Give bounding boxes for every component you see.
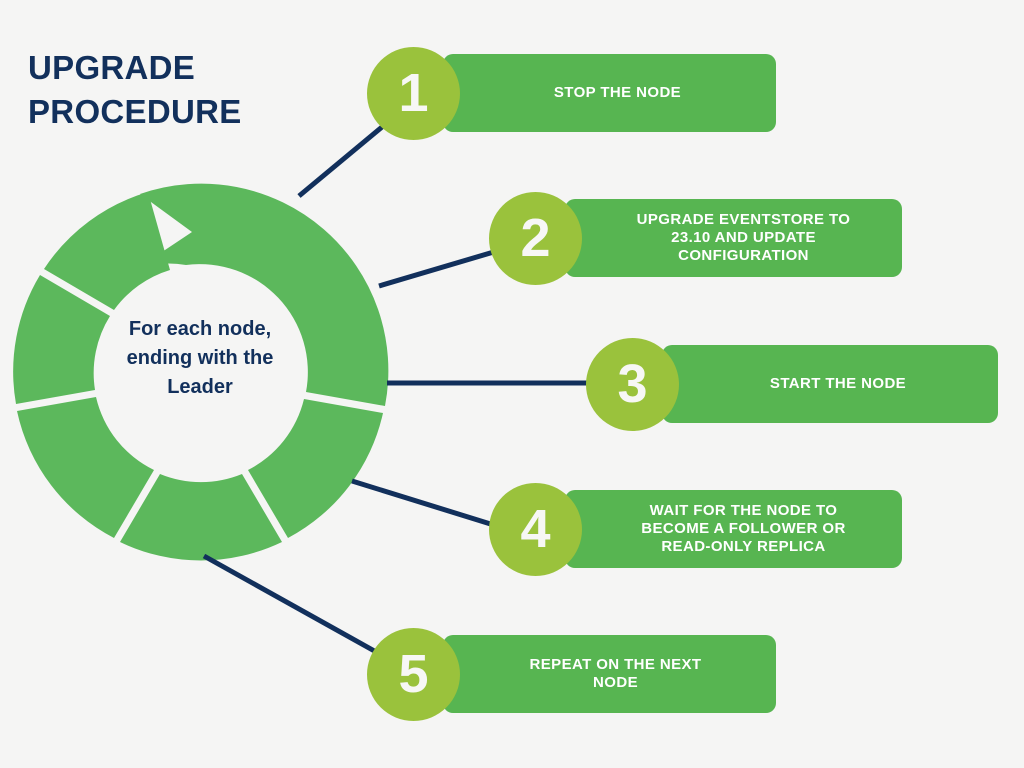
step-4-badge[interactable]: 4 [489, 483, 582, 576]
connector-line-4 [352, 481, 497, 526]
step-5-box[interactable]: REPEAT ON THE NEXT NODE [443, 635, 776, 713]
connector-line-5 [204, 556, 378, 653]
step-2-label: UPGRADE EVENTSTORE TO 23.10 AND UPDATE C… [607, 211, 861, 266]
step-1-box[interactable]: STOP THE NODE [443, 54, 776, 132]
step-4-label: WAIT FOR THE NODE TO BECOME A FOLLOWER O… [611, 502, 855, 557]
infographic-canvas: UPGRADE PROCEDURE For each node, ending … [0, 0, 1024, 768]
step-3-label: START THE NODE [744, 375, 916, 393]
step-5-number: 5 [398, 647, 428, 701]
step-1-number: 1 [398, 66, 428, 120]
step-2-number: 2 [520, 211, 550, 265]
step-2-badge[interactable]: 2 [489, 192, 582, 285]
step-3-box[interactable]: START THE NODE [662, 345, 998, 423]
step-1-label: STOP THE NODE [528, 84, 691, 102]
step-2-box[interactable]: UPGRADE EVENTSTORE TO 23.10 AND UPDATE C… [565, 199, 902, 277]
connector-line-1 [299, 127, 382, 196]
connector-line-2 [379, 251, 497, 286]
step-5-label: REPEAT ON THE NEXT NODE [508, 656, 712, 693]
step-1-badge[interactable]: 1 [367, 47, 460, 140]
step-3-number: 3 [617, 357, 647, 411]
step-4-number: 4 [520, 502, 550, 556]
step-5-badge[interactable]: 5 [367, 628, 460, 721]
step-4-box[interactable]: WAIT FOR THE NODE TO BECOME A FOLLOWER O… [565, 490, 902, 568]
step-3-badge[interactable]: 3 [586, 338, 679, 431]
